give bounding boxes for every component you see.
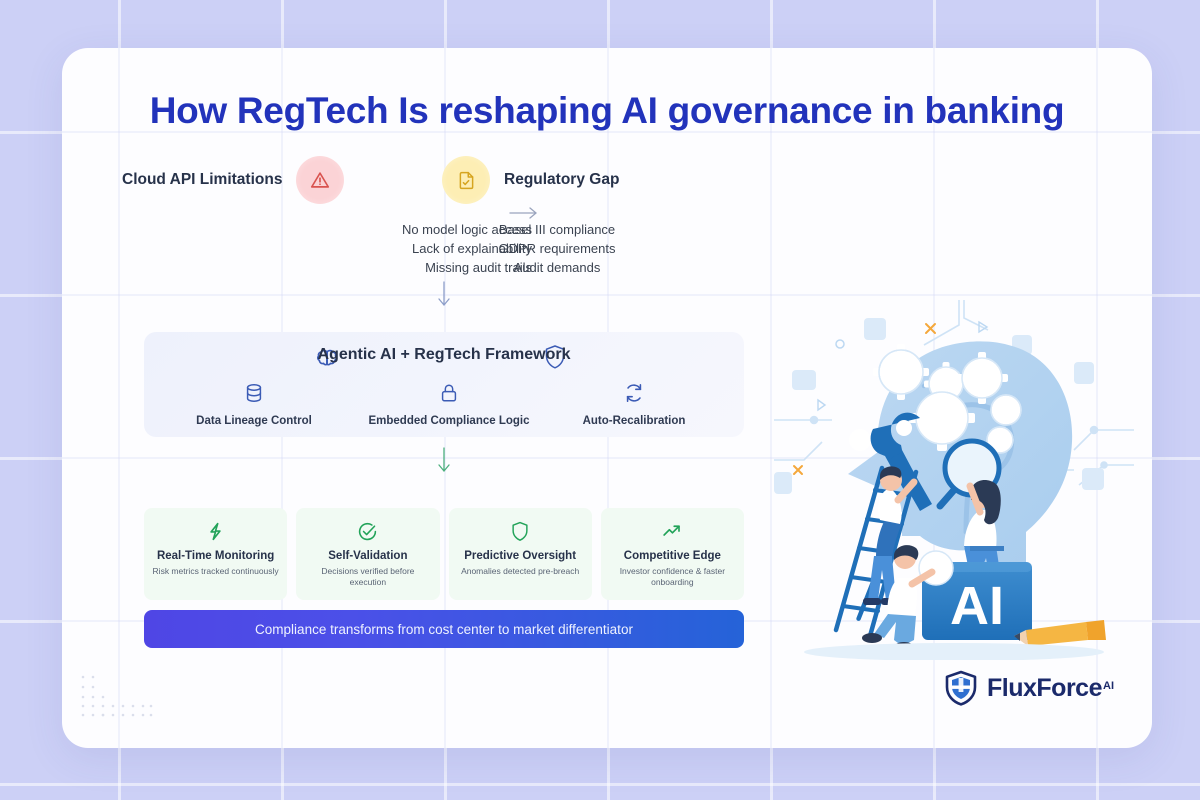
framework-panel: Agentic AI + RegTech Framework Data Line… (144, 332, 744, 437)
brand-logo: FluxForceAI (944, 670, 1114, 706)
refresh-icon (623, 382, 645, 404)
ai-head-gears-illustration: AI (774, 300, 1134, 660)
ground-shadow (804, 643, 1104, 660)
problem-title-regulatory-gap: Regulatory Gap (504, 171, 619, 189)
benefits-section: Real-Time Monitoring Risk metrics tracke… (144, 508, 744, 600)
problem-item: Basel III compliance (427, 220, 687, 239)
problem-list-regulatory-gap: Basel III compliance GDPR requirements A… (427, 220, 687, 277)
benefit-title: Self-Validation (328, 550, 407, 562)
problem-header-cloud-api: Cloud API Limitations (122, 156, 344, 204)
problem-header-regulatory-gap: Regulatory Gap (442, 156, 619, 204)
svg-text:AI: AI (950, 576, 1004, 636)
document-check-icon (442, 156, 490, 204)
shield-logo-icon (944, 670, 978, 706)
lightning-bolt-icon (205, 519, 226, 543)
framework-item-label: Data Lineage Control (164, 415, 344, 427)
database-icon (243, 382, 265, 404)
logo-superscript: AI (1103, 680, 1114, 692)
framework-title: Agentic AI + RegTech Framework (304, 344, 584, 365)
problem-item: Audit demands (427, 258, 687, 277)
problem-title-cloud-api: Cloud API Limitations (122, 171, 282, 189)
infographic-card: How RegTech Is reshaping AI governance i… (62, 48, 1152, 748)
framework-item-label: Auto-Recalibration (544, 415, 724, 427)
benefit-title: Competitive Edge (624, 550, 721, 562)
benefit-subtitle: Investor confidence & faster onboarding (607, 566, 738, 588)
benefit-card-predictive-oversight: Predictive Oversight Anomalies detected … (449, 508, 592, 600)
benefit-card-competitive-edge: Competitive Edge Investor confidence & f… (601, 508, 744, 600)
check-circle-icon (357, 519, 378, 543)
framework-item-auto-recalibration: Auto-Recalibration (544, 382, 724, 427)
arrow-down-icon (434, 280, 454, 310)
benefit-card-real-time-monitoring: Real-Time Monitoring Risk metrics tracke… (144, 508, 287, 600)
cta-banner[interactable]: Compliance transforms from cost center t… (144, 610, 744, 648)
problem-item: GDPR requirements (427, 239, 687, 258)
dot-grid-decoration (80, 674, 154, 718)
warning-triangle-icon (296, 156, 344, 204)
content-column: Cloud API Limitations (62, 48, 782, 748)
framework-item-data-lineage: Data Lineage Control (164, 382, 344, 427)
cta-text: Compliance transforms from cost center t… (255, 622, 633, 637)
framework-item-embedded-compliance: Embedded Compliance Logic (349, 382, 549, 427)
shield-icon (510, 519, 530, 543)
benefit-title: Real-Time Monitoring (157, 550, 274, 562)
logo-text: FluxForce (987, 674, 1102, 702)
trending-up-icon (661, 519, 683, 543)
benefit-subtitle: Decisions verified before execution (302, 566, 433, 588)
benefit-card-self-validation: Self-Validation Decisions verified befor… (296, 508, 439, 600)
benefit-subtitle: Anomalies detected pre-breach (461, 566, 579, 577)
benefit-title: Predictive Oversight (464, 550, 576, 562)
problems-section: Cloud API Limitations (82, 148, 762, 323)
arrow-down-icon (434, 446, 454, 476)
lock-icon (438, 382, 460, 404)
benefit-subtitle: Risk metrics tracked continuously (153, 566, 279, 577)
framework-item-label: Embedded Compliance Logic (349, 415, 549, 427)
